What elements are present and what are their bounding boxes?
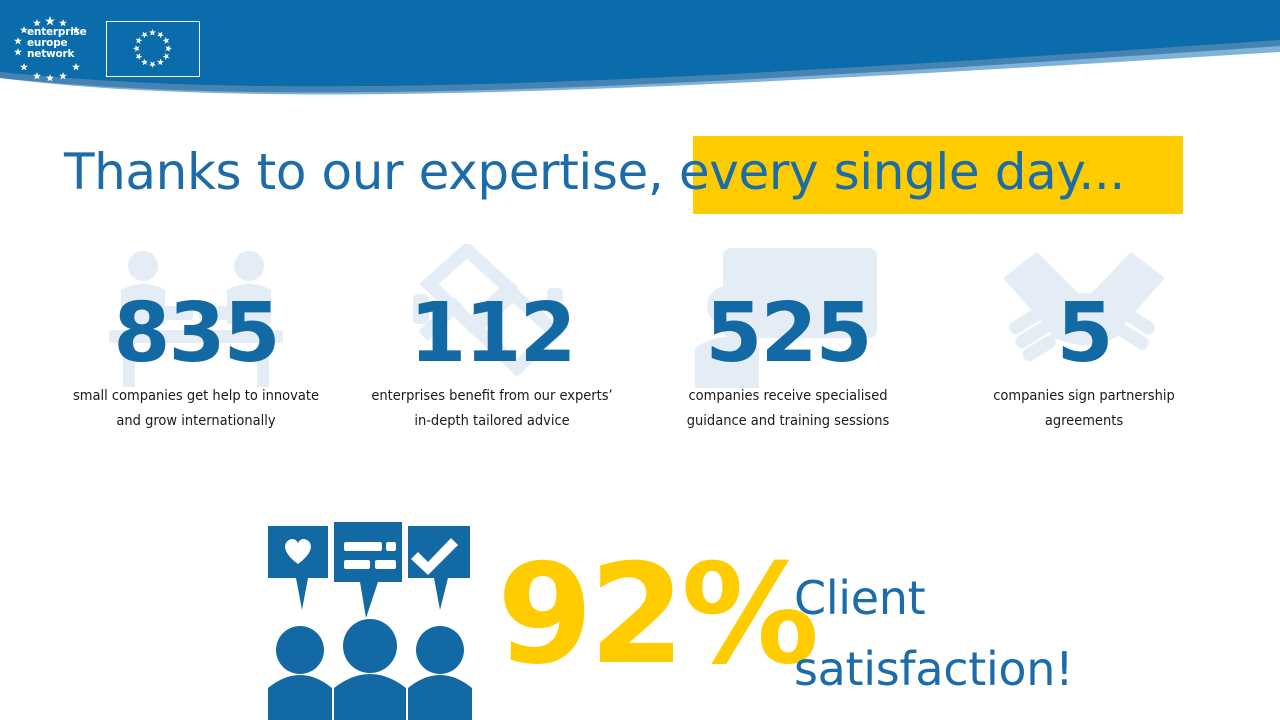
stat-number: 112: [409, 293, 574, 381]
stats-row: 835 small companies get help to innovate…: [48, 240, 1232, 465]
logo-wordmark: enterprise europe network: [27, 27, 87, 59]
stat-number: 5: [1056, 293, 1111, 381]
title-row: Thanks to our expertise, every single da…: [0, 136, 1280, 214]
satisfaction-label: Client satisfaction!: [794, 563, 1073, 705]
slide-header: enterprise europe network: [0, 0, 1280, 122]
stat-block-3: 525 companies receive specialised guidan…: [640, 240, 936, 465]
logo-line-2: europe: [27, 38, 87, 49]
stat-number: 835: [113, 293, 278, 381]
feedback-people-speech-bubbles-icon: [262, 520, 477, 720]
stat-block-2: 112 enterprises benefit from our experts…: [344, 240, 640, 465]
satisfaction-label-line-1: Client: [794, 563, 1073, 634]
logo-line-3: network: [27, 49, 87, 60]
stat-caption: enterprises benefit from our experts’ in…: [367, 384, 617, 434]
text-lines-icon: [344, 542, 382, 551]
stat-block-4: 5 companies sign partnership agreements: [936, 240, 1232, 465]
stat-caption: companies sign partnership agreements: [959, 384, 1209, 434]
stat-block-1: 835 small companies get help to innovate…: [48, 240, 344, 465]
stat-caption: companies receive specialised guidance a…: [663, 384, 913, 434]
stat-number: 525: [705, 293, 870, 381]
stat-caption: small companies get help to innovate and…: [71, 384, 321, 434]
eu-flag-stars-icon: [107, 22, 198, 75]
enterprise-europe-network-logo: enterprise europe network: [10, 14, 90, 84]
satisfaction-percent: 92%: [497, 546, 815, 684]
logo-group: enterprise europe network: [10, 14, 188, 84]
european-union-flag: [106, 21, 200, 77]
satisfaction-label-line-2: satisfaction!: [794, 634, 1073, 705]
page-title: Thanks to our expertise, every single da…: [64, 132, 1125, 212]
